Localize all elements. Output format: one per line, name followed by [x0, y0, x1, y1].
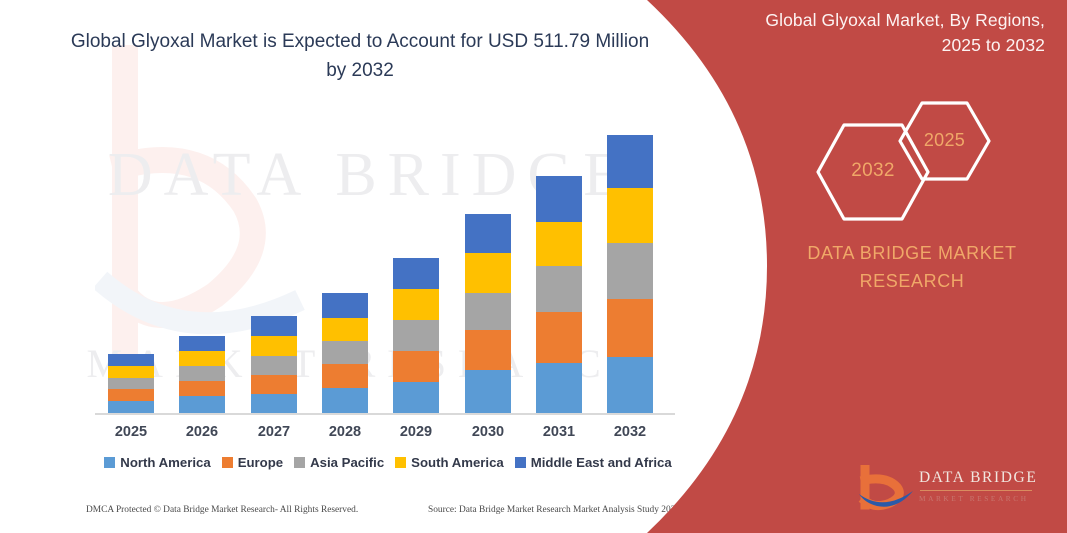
bar-segment — [536, 176, 582, 222]
dbmr-logo-main: DATA BRIDGE — [919, 469, 1037, 487]
bar-group — [536, 176, 582, 413]
bar-group — [251, 316, 297, 413]
bar-segment — [251, 394, 297, 413]
x-axis-label: 2030 — [453, 424, 523, 440]
bar-segment — [251, 316, 297, 336]
footer-copyright: DMCA Protected © Data Bridge Market Rese… — [86, 505, 358, 515]
panel-title: Global Glyoxal Market, By Regions, 2025 … — [745, 8, 1045, 58]
legend-label: Asia Pacific — [310, 455, 384, 470]
x-axis-labels: 20252026202720282029203020312032 — [0, 424, 740, 448]
dbmr-logo-mark — [857, 465, 915, 511]
bar-segment — [108, 354, 154, 366]
bar-segment — [251, 336, 297, 356]
bar-segment — [251, 356, 297, 375]
bar-segment — [393, 351, 439, 382]
bar-segment — [393, 320, 439, 351]
brand-name: DATA BRIDGE MARKET RESEARCH — [647, 240, 1067, 296]
legend-item[interactable]: Middle East and Africa — [515, 455, 672, 470]
legend-item[interactable]: North America — [104, 455, 210, 470]
legend-item[interactable]: Europe — [222, 455, 283, 470]
x-axis-line — [95, 413, 675, 415]
legend-swatch — [515, 457, 526, 468]
x-axis-label: 2028 — [310, 424, 380, 440]
legend-swatch — [395, 457, 406, 468]
bar-segment — [465, 214, 511, 253]
bar-segment — [536, 222, 582, 266]
x-axis-label: 2026 — [167, 424, 237, 440]
legend-swatch — [294, 457, 305, 468]
legend-swatch — [104, 457, 115, 468]
x-axis-label: 2027 — [239, 424, 309, 440]
bar-segment — [322, 388, 368, 413]
bar-segment — [607, 357, 653, 413]
legend-label: Middle East and Africa — [531, 455, 672, 470]
hexagon-group: 2032 2025 — [815, 100, 1005, 220]
bar-segment — [536, 266, 582, 312]
x-axis-label: 2032 — [595, 424, 665, 440]
legend-label: North America — [120, 455, 210, 470]
dbmr-logo-rule — [920, 490, 1032, 491]
bar-segment — [322, 364, 368, 388]
dbmr-logo-sub: MARKET RESEARCH — [919, 494, 1037, 503]
bar-segment — [322, 318, 368, 341]
legend-swatch — [222, 457, 233, 468]
hexagon-2025-label: 2025 — [897, 130, 992, 151]
bar-segment — [179, 336, 225, 351]
bar-segment — [536, 312, 582, 363]
bar-segment — [536, 363, 582, 413]
bar-segment — [322, 293, 368, 318]
bar-segment — [607, 299, 653, 358]
x-axis-label: 2029 — [381, 424, 451, 440]
bar-segment — [251, 375, 297, 394]
bar-segment — [179, 366, 225, 381]
chart-plot-area: 20252026202720282029203020312032 — [0, 0, 740, 533]
x-axis-label: 2025 — [96, 424, 166, 440]
bar-segment — [179, 381, 225, 396]
bar-segment — [393, 289, 439, 320]
bar-segment — [108, 401, 154, 413]
bar-segment — [393, 258, 439, 289]
legend-item[interactable]: Asia Pacific — [294, 455, 384, 470]
bar-segment — [465, 330, 511, 370]
dbmr-logo: DATA BRIDGE MARKET RESEARCH — [857, 465, 1047, 513]
bar-group — [322, 293, 368, 413]
bar-segment — [393, 382, 439, 413]
legend-item[interactable]: South America — [395, 455, 504, 470]
bar-segment — [465, 370, 511, 413]
chart-legend: North AmericaEuropeAsia PacificSouth Ame… — [98, 455, 678, 470]
bar-segment — [465, 253, 511, 293]
legend-label: South America — [411, 455, 504, 470]
footer: DMCA Protected © Data Bridge Market Rese… — [0, 505, 700, 527]
bar-segment — [607, 135, 653, 188]
bar-segment — [607, 188, 653, 243]
footer-source: Source: Data Bridge Market Research Mark… — [428, 505, 680, 515]
bar-segment — [179, 396, 225, 413]
bar-segment — [108, 378, 154, 389]
bar-group — [393, 258, 439, 413]
x-axis-label: 2031 — [524, 424, 594, 440]
bar-segment — [322, 341, 368, 364]
bar-segment — [465, 293, 511, 330]
bar-segment — [108, 366, 154, 378]
bar-group — [179, 336, 225, 413]
dbmr-logo-text: DATA BRIDGE MARKET RESEARCH — [919, 469, 1037, 503]
infographic-root: DATA BRIDGE MARKET RESEARCH Global Glyox… — [0, 0, 1067, 533]
bar-segment — [179, 351, 225, 366]
bar-segment — [108, 389, 154, 401]
legend-label: Europe — [238, 455, 283, 470]
bar-group — [465, 214, 511, 413]
bar-group — [108, 354, 154, 413]
hexagon-2025: 2025 — [897, 100, 992, 182]
